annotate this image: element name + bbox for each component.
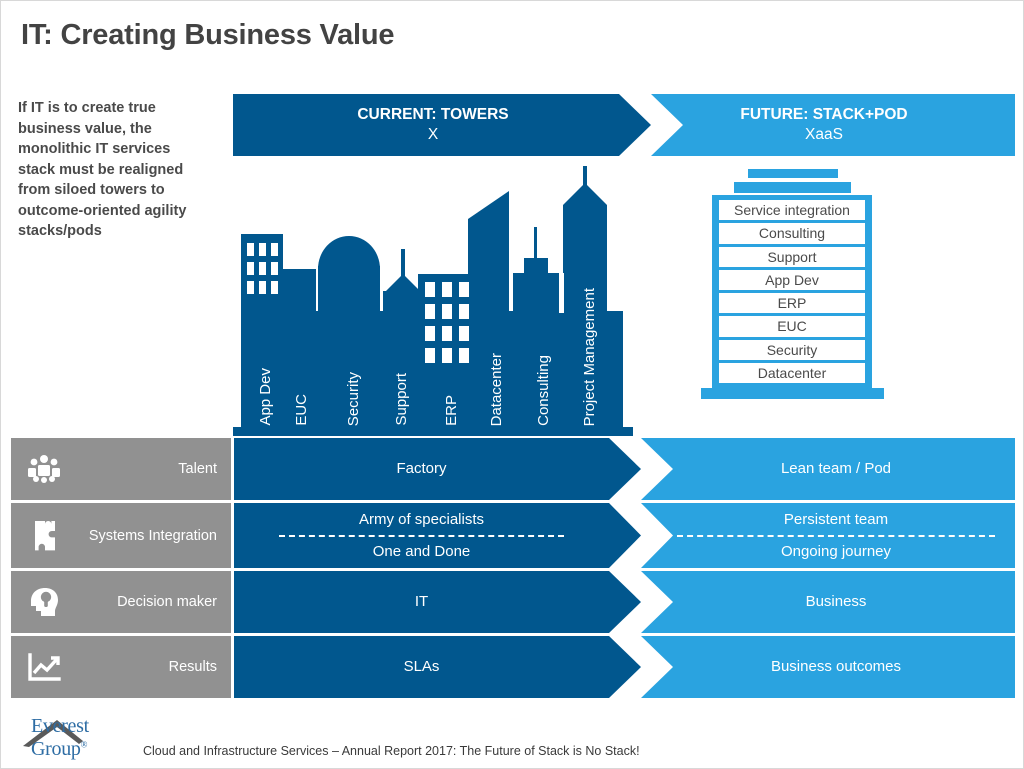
puzzle-piece-icon [21,519,67,553]
row-label-talent: Talent [11,438,231,500]
skyline-label-erp: ERP [443,395,460,426]
banner-current-title: CURRENT: TOWERS [357,105,508,125]
banner-current-subtitle: X [428,125,438,145]
stack-layer-consulting: Consulting [719,223,865,243]
row-current-line-2: One and Done [373,541,471,563]
row-current-line: Army of specialists [359,509,484,531]
banner-future-subtitle: XaaS [805,125,843,145]
row-future-cell: Lean team / Pod [609,438,1015,500]
logo-text: Everest Group® [31,715,143,761]
stack-layer-app-dev: App Dev [719,270,865,290]
row-current-content: Army of specialists One and Done [279,509,564,563]
banner-future-title: FUTURE: STACK+POD [740,105,907,125]
skyline-label-group: App Dev EUC Security Support ERP Datacen… [233,161,633,436]
skyline-label-datacenter: Datacenter [488,353,505,426]
row-current-cell: IT [234,571,641,633]
row-current-cell: SLAs [234,636,641,698]
stack-layer-datacenter: Datacenter [719,363,865,383]
row-future-cell: Persistent team Ongoing journey [609,503,1015,568]
row-label-text: Results [67,659,231,675]
row-label-systems-integration: Systems Integration [11,503,231,568]
row-future-cell: Business outcomes [609,636,1015,698]
stack-layer-list: Service integration Consulting Support A… [719,200,865,383]
row-future-content: Business [806,591,867,613]
row-current-line: Factory [396,458,446,480]
row-future-line-2: Ongoing journey [781,541,891,563]
stack-roof-top [748,169,838,178]
stack-layer-security: Security [719,340,865,360]
divider [677,535,995,537]
row-future-content: Persistent team Ongoing journey [677,509,995,563]
slide-canvas: IT: Creating Business Value If IT is to … [0,0,1024,769]
row-label-text: Decision maker [67,594,231,610]
row-current-content: Factory [396,458,446,480]
row-current-cell: Army of specialists One and Done [234,503,641,568]
table-row: Decision maker IT Business [11,571,1015,633]
stack-base [701,388,884,399]
stack-roof-lower [734,182,851,193]
row-current-cell: Factory [234,438,641,500]
table-row: Systems Integration Army of specialists … [11,503,1015,568]
skyline-label-consulting: Consulting [535,355,552,426]
trend-chart-icon [21,652,67,682]
row-future-cell: Business [609,571,1015,633]
skyline-label-euc: EUC [293,394,310,426]
comparison-banner: CURRENT: TOWERS X FUTURE: STACK+POD XaaS [233,94,1015,156]
banner-future-label: FUTURE: STACK+POD XaaS [633,94,1015,156]
table-row: Talent Factory Lean team / Pod [11,438,1015,500]
divider [279,535,564,537]
row-future-content: Lean team / Pod [781,458,891,480]
page-title: IT: Creating Business Value [21,19,394,52]
head-lightbulb-icon [21,586,67,618]
row-current-content: SLAs [404,656,440,678]
stack-layer-erp: ERP [719,293,865,313]
row-label-text: Systems Integration [67,528,231,544]
row-current-line: IT [415,591,428,613]
row-future-line: Persistent team [784,509,888,531]
row-label-text: Talent [67,461,231,477]
stack-pod-graphic: Service integration Consulting Support A… [701,169,951,436]
towers-skyline-graphic: App Dev EUC Security Support ERP Datacen… [233,161,633,436]
footer: Everest Group® Cloud and Infrastructure … [21,717,640,761]
row-future-line: Business outcomes [771,656,901,678]
row-current-line: SLAs [404,656,440,678]
row-label-decision-maker: Decision maker [11,571,231,633]
everest-group-logo: Everest Group® [21,717,143,761]
source-caption: Cloud and Infrastructure Services – Annu… [143,744,640,761]
skyline-label-project-management: Project Management [581,288,598,426]
row-future-line: Business [806,591,867,613]
intro-paragraph: If IT is to create true business value, … [18,98,208,242]
row-current-content: IT [415,591,428,613]
stack-layer-euc: EUC [719,316,865,336]
row-future-content: Business outcomes [771,656,901,678]
stack-layer-service-integration: Service integration [719,200,865,220]
comparison-rows: Talent Factory Lean team / Pod [11,438,1015,701]
row-label-results: Results [11,636,231,698]
registered-mark: ® [81,739,88,749]
banner-current-label: CURRENT: TOWERS X [233,94,633,156]
skyline-label-app-dev: App Dev [257,368,274,426]
skyline-label-support: Support [393,373,410,426]
table-row: Results SLAs Business outcomes [11,636,1015,698]
skyline-label-security: Security [345,372,362,426]
people-group-icon [21,454,67,484]
row-future-line: Lean team / Pod [781,458,891,480]
stack-layer-support: Support [719,247,865,267]
